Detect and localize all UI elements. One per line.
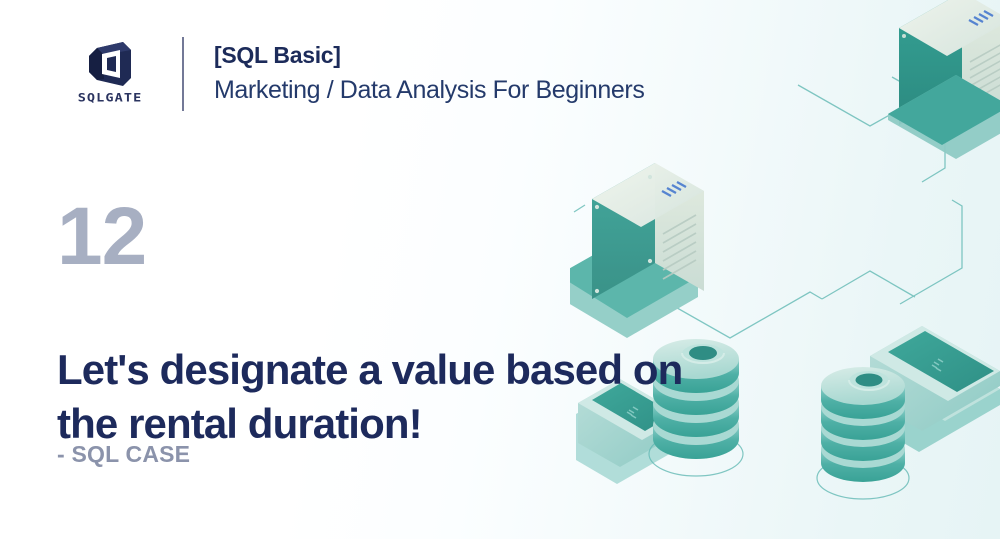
server-tower-right [888, 0, 1000, 159]
header-divider [182, 37, 184, 111]
lesson-subject: - SQL CASE [57, 441, 190, 468]
brand-logo[interactable]: SQLGATE [62, 42, 158, 106]
course-tag: [SQL Basic] [214, 40, 644, 71]
slide-canvas: SQLGATE [SQL Basic] Marketing / Data Ana… [0, 0, 1000, 539]
sqlgate-cube-logo-icon [87, 42, 133, 86]
course-subtitle: Marketing / Data Analysis For Beginners [214, 73, 644, 108]
header-text: [SQL Basic] Marketing / Data Analysis Fo… [214, 40, 644, 108]
database-cylinder-right [817, 367, 909, 499]
header: SQLGATE [SQL Basic] Marketing / Data Ana… [62, 32, 644, 116]
lesson-number: 12 [57, 196, 146, 278]
connector-lines [574, 77, 962, 338]
logo-wordmark: SQLGATE [78, 93, 143, 104]
server-tower-center [570, 163, 704, 338]
chip-tile-right [864, 326, 1000, 452]
page-title: Let's designate a value based on the ren… [57, 343, 747, 451]
